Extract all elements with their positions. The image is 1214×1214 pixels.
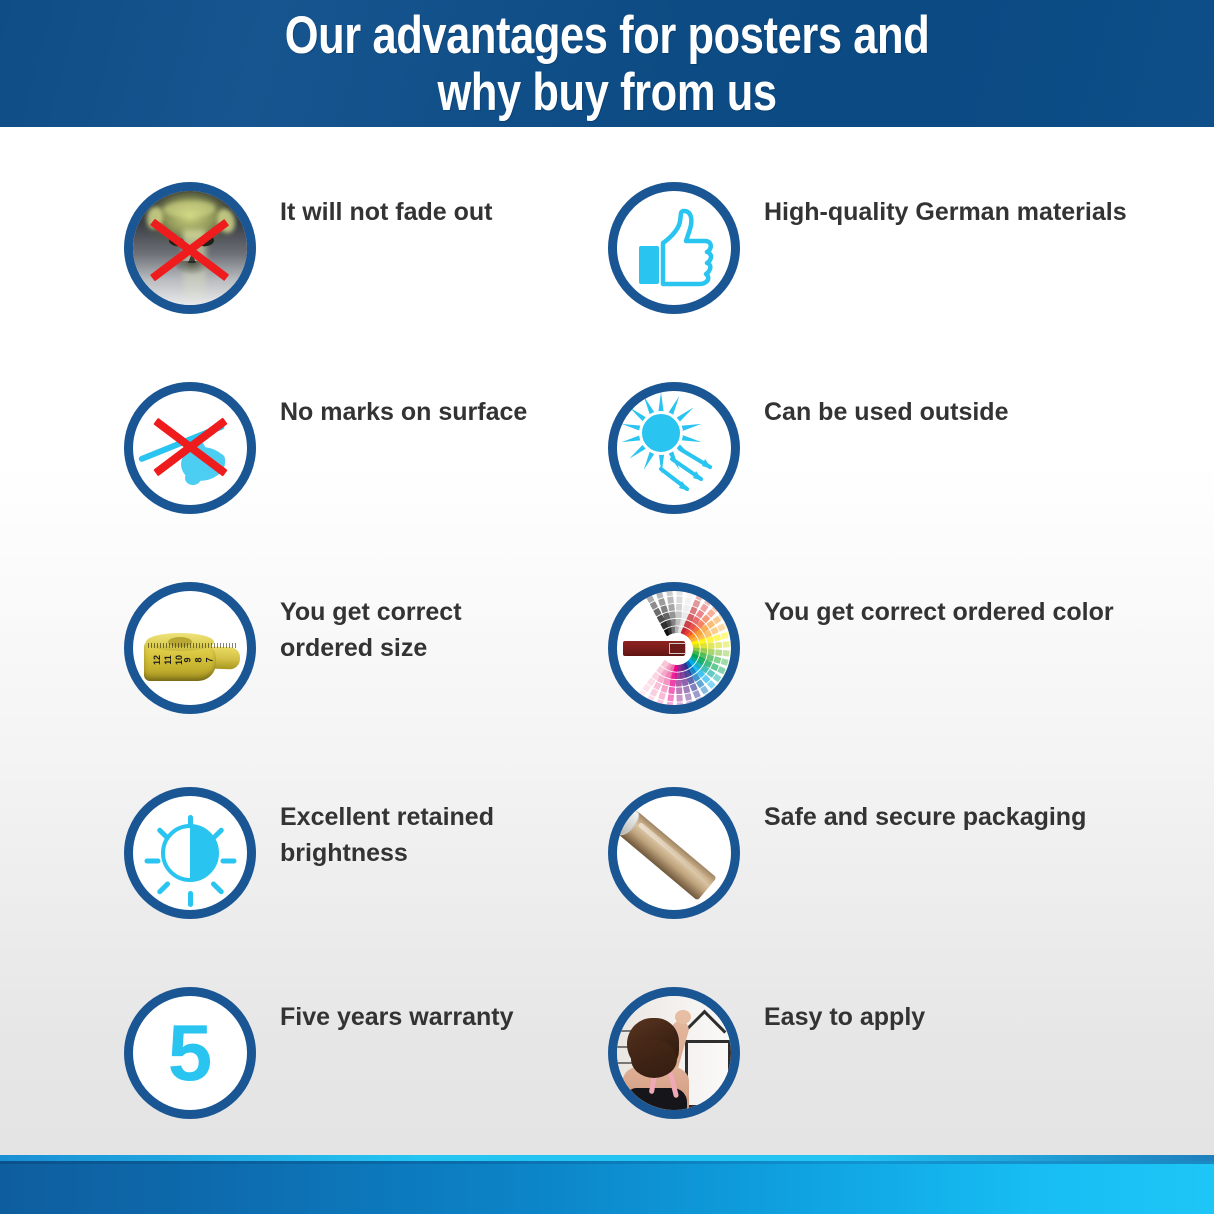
- tape-tick: [211, 643, 212, 648]
- measuring-tape-icon: 121110987: [124, 582, 256, 714]
- feature-label-fade: It will not fade out: [280, 182, 492, 230]
- feature-item-warranty: 5 Five years warranty: [124, 987, 513, 1119]
- warranty-number: 5: [133, 996, 247, 1110]
- thumbs-up-glyph: [617, 191, 731, 305]
- tape-tick: [199, 643, 200, 648]
- cardboard-tube: [618, 811, 717, 901]
- tape-number: 7: [205, 657, 215, 662]
- color-fan-icon: [608, 582, 740, 714]
- feature-item-apply: Easy to apply: [608, 987, 925, 1119]
- no-marks-icon: [124, 382, 256, 514]
- tape-tick: [214, 643, 215, 648]
- decal-frame: [685, 1040, 731, 1108]
- tape-tick: [196, 643, 197, 648]
- tape-number: 12: [152, 655, 162, 665]
- tape-number: 9: [183, 657, 193, 662]
- tape-tick: [187, 643, 188, 648]
- tape-tick: [160, 643, 161, 648]
- color-fan-card: [675, 591, 683, 633]
- tape-tick: [157, 643, 158, 648]
- tape-tick: [226, 643, 227, 648]
- shipping-tube-icon: [608, 787, 740, 919]
- tape-tick: [166, 643, 167, 648]
- feature-label-brightness: Excellent retained brightness: [280, 787, 494, 871]
- icon-wrap-german: [608, 182, 740, 314]
- tape-number: 8: [194, 657, 204, 662]
- feature-label-no-marks: No marks on surface: [280, 382, 527, 430]
- color-fan-deck: [617, 591, 731, 705]
- icon-wrap-size: 121110987: [124, 582, 256, 714]
- person-applying-icon: [608, 987, 740, 1119]
- feature-item-color: You get correct ordered color: [608, 582, 1114, 714]
- feature-label-warranty: Five years warranty: [280, 987, 513, 1035]
- skull-fade-icon: [124, 182, 256, 314]
- tape-tick: [217, 643, 218, 648]
- feature-label-outside: Can be used outside: [764, 382, 1008, 430]
- tape-tick: [232, 643, 233, 648]
- red-cross-icon: [133, 391, 247, 505]
- tape-tick: [148, 643, 149, 648]
- brightness-ray: [144, 859, 160, 864]
- tape-tick: [181, 643, 182, 648]
- person-applying-photo: [617, 996, 731, 1110]
- tape-tick: [223, 643, 224, 648]
- brightness-ray: [209, 880, 224, 895]
- tape-tick: [169, 643, 170, 648]
- tape-number: 11: [163, 655, 173, 665]
- tape-tick: [178, 643, 179, 648]
- icon-wrap-warranty: 5: [124, 987, 256, 1119]
- tape-tick: [163, 643, 164, 648]
- feature-label-packaging: Safe and secure packaging: [764, 787, 1086, 835]
- tape-tick: [175, 643, 176, 648]
- feature-item-packaging: Safe and secure packaging: [608, 787, 1086, 919]
- infographic-page: Our advantages for posters and why buy f…: [0, 0, 1214, 1214]
- tape-tick: [151, 643, 152, 648]
- icon-wrap-fade: [124, 182, 256, 314]
- feature-item-brightness: Excellent retained brightness: [124, 787, 494, 919]
- feature-item-no-marks: No marks on surface: [124, 382, 527, 514]
- tape-tick: [220, 643, 221, 648]
- feature-item-size: 121110987 You get correct ordered size: [124, 582, 462, 714]
- brightness-icon: [124, 787, 256, 919]
- feature-label-german: High-quality German materials: [764, 182, 1127, 230]
- tape-roll: 121110987: [144, 641, 240, 681]
- tape-tick: [202, 643, 203, 648]
- page-title: Our advantages for posters and why buy f…: [268, 7, 945, 121]
- tape-tick: [235, 643, 236, 648]
- icon-wrap-apply: [608, 987, 740, 1119]
- tape-tick: [208, 643, 209, 648]
- tape-tick: [205, 643, 206, 648]
- footer-top-line: [0, 1161, 1214, 1164]
- icon-wrap-outside: [608, 382, 740, 514]
- footer-bar: [0, 1161, 1214, 1214]
- number-five-icon: 5: [124, 987, 256, 1119]
- tape-tick: [172, 643, 173, 648]
- feature-label-size: You get correct ordered size: [280, 582, 462, 666]
- feature-item-fade: It will not fade out: [124, 182, 492, 314]
- icon-wrap-no-marks: [124, 382, 256, 514]
- tape-tick: [154, 643, 155, 648]
- tape-tick: [229, 643, 230, 648]
- icon-wrap-packaging: [608, 787, 740, 919]
- sun-outside-icon: [608, 382, 740, 514]
- icon-wrap-brightness: [124, 787, 256, 919]
- icon-wrap-color: [608, 582, 740, 714]
- features-grid: It will not fade out High-quality German…: [0, 127, 1214, 1155]
- feature-label-apply: Easy to apply: [764, 987, 925, 1035]
- tape-tick: [190, 643, 191, 648]
- tape-tick: [193, 643, 194, 648]
- header-banner: Our advantages for posters and why buy f…: [0, 0, 1214, 127]
- feature-label-color: You get correct ordered color: [764, 582, 1114, 630]
- brightness-ray: [220, 859, 236, 864]
- red-cross-icon: [133, 191, 247, 305]
- brightness-ray: [188, 891, 193, 907]
- feature-item-outside: Can be used outside: [608, 382, 1008, 514]
- brightness-ray: [156, 880, 171, 895]
- feature-item-german: High-quality German materials: [608, 182, 1127, 314]
- tape-tick: [184, 643, 185, 648]
- thumbs-up-icon: [608, 182, 740, 314]
